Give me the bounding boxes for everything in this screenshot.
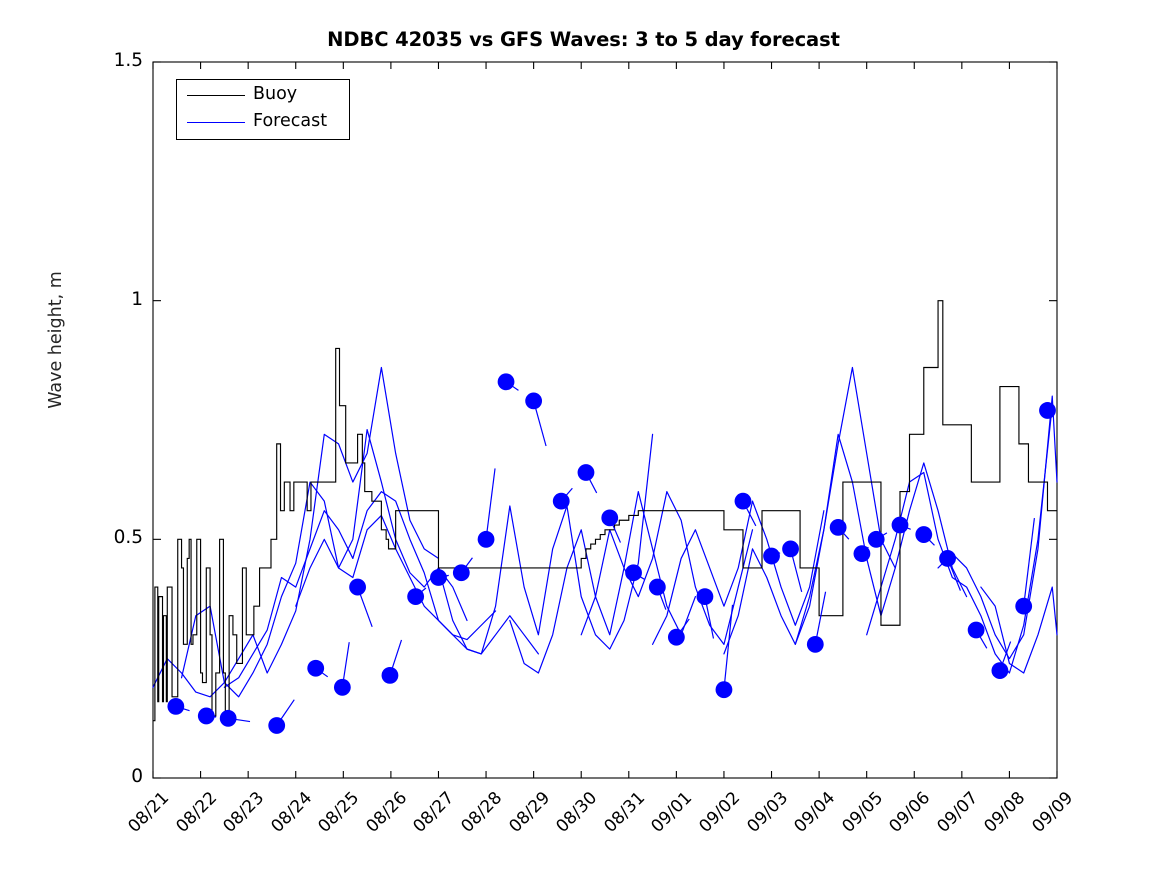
legend-item-buoy: Buoy: [177, 83, 349, 109]
legend-item-forecast: Forecast: [177, 110, 349, 136]
x-axis-ticks: [153, 62, 1057, 778]
forecast-marker-series: [167, 373, 1055, 733]
legend: Buoy Forecast: [176, 79, 350, 140]
legend-label-forecast: Forecast: [253, 111, 327, 131]
buoy-line-series: [153, 301, 1057, 721]
y-tick-label: 0: [73, 766, 143, 787]
legend-swatch-buoy: [187, 95, 245, 96]
figure-canvas: NDBC 42035 vs GFS Waves: 3 to 5 day fore…: [0, 0, 1167, 875]
y-tick-label: 1: [73, 289, 143, 310]
y-tick-label: 0.5: [73, 527, 143, 548]
y-tick-label: 1.5: [73, 50, 143, 71]
axes-frame: [153, 62, 1057, 778]
legend-label-buoy: Buoy: [253, 84, 297, 104]
y-axis-ticks: [153, 62, 1057, 778]
legend-swatch-forecast: [187, 122, 245, 123]
